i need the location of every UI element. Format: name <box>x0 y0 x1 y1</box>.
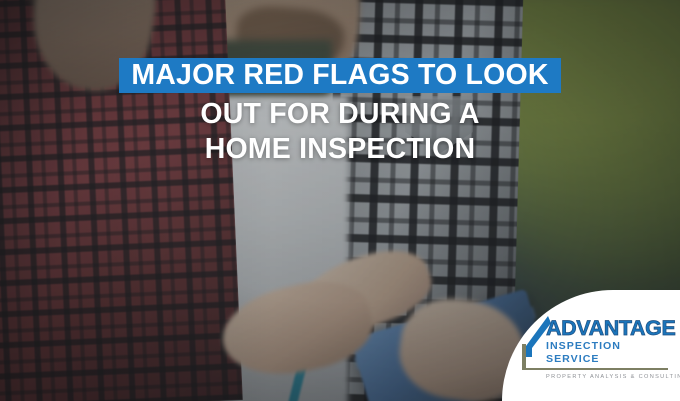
logo-stem <box>522 344 526 370</box>
headline-line-1-text: MAJOR RED FLAGS TO LOOK <box>119 58 560 93</box>
marketing-banner: MAJOR RED FLAGS TO LOOK OUT FOR DURING A… <box>0 0 680 401</box>
logo-tagline: PROPERTY ANALYSIS & CONSULTING <box>546 374 668 380</box>
logo[interactable]: ADVANTAGE INSPECTION SERVICE PROPERTY AN… <box>518 316 668 378</box>
logo-stem-foot <box>522 368 548 370</box>
headline-line-3: HOME INSPECTION <box>0 132 680 167</box>
logo-service-name: INSPECTION SERVICE <box>546 340 670 366</box>
headline-block: MAJOR RED FLAGS TO LOOK OUT FOR DURING A… <box>0 58 680 167</box>
headline-line-2: OUT FOR DURING A <box>0 97 680 132</box>
logo-brand-name: ADVANTAGE <box>546 318 668 339</box>
logo-type: ADVANTAGE INSPECTION SERVICE PROPERTY AN… <box>546 318 668 380</box>
headline-line-1: MAJOR RED FLAGS TO LOOK <box>0 58 680 93</box>
logo-divider-rule <box>546 368 668 370</box>
